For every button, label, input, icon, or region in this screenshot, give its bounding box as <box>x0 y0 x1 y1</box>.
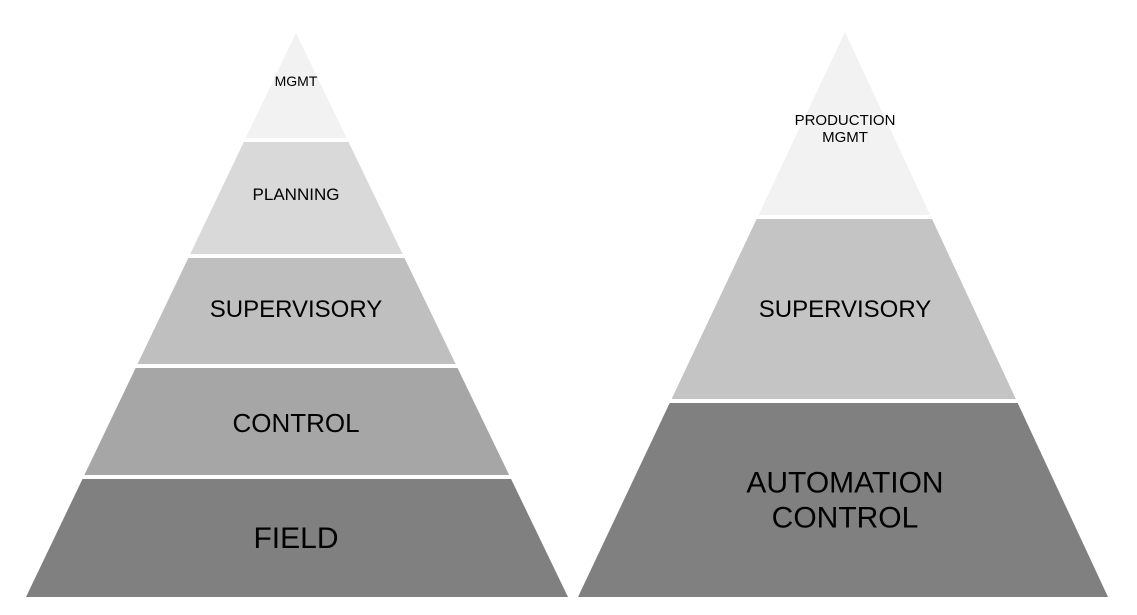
diagram-canvas: MGMTPLANNINGSUPERVISORYCONTROLFIELDPRODU… <box>0 0 1137 615</box>
pyramid-band[interactable] <box>672 219 1016 399</box>
pyramid-band[interactable] <box>246 33 347 138</box>
pyramid-band[interactable] <box>190 142 402 254</box>
pyramid-band[interactable] <box>138 258 456 364</box>
pyramid-band[interactable] <box>578 403 1108 597</box>
pyramid-band[interactable] <box>759 32 931 215</box>
pyramid-band[interactable] <box>26 479 568 597</box>
pyramid-diagram-svg <box>0 0 1137 615</box>
pyramid-band[interactable] <box>84 368 509 475</box>
